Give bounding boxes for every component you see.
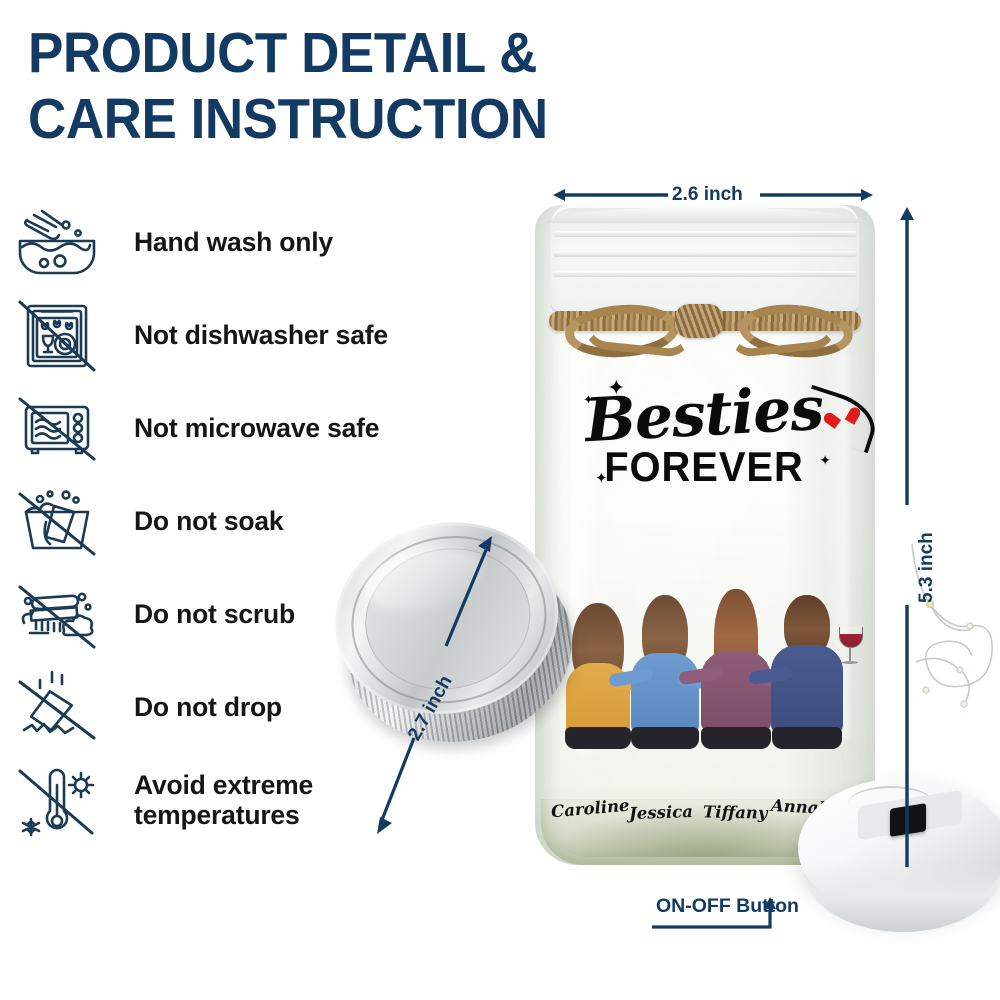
jar-artwork: Besties FOREVER ✦ ✦ ✦ ✦: [553, 385, 857, 815]
jar-thread: [553, 251, 857, 257]
dimension-height: 5.3 inch: [890, 205, 924, 875]
jar-thread: [553, 231, 857, 237]
sparkle-icon: ✦: [819, 453, 831, 467]
dimension-lid: 2.7 inch: [374, 528, 554, 868]
care-label: Do not drop: [134, 693, 282, 723]
dimension-width: 2.6 inch: [548, 184, 878, 204]
care-label: Do not scrub: [134, 600, 295, 630]
page-title: PRODUCT DETAIL & CARE INSTRUCTION: [28, 20, 716, 152]
seat: [631, 727, 699, 749]
sparkle-icon: ✦: [583, 393, 594, 406]
besties-headline: Besties FOREVER ✦ ✦ ✦ ✦: [559, 385, 849, 491]
name-1: Caroline: [550, 796, 630, 822]
no-dishwasher-icon: [8, 292, 106, 380]
no-soak-icon: [8, 478, 106, 566]
product-care-infographic: PRODUCT DETAIL & CARE INSTRUCTION Hand w…: [0, 0, 1000, 1000]
twine-knot: [675, 304, 723, 338]
no-drop-icon: [8, 664, 106, 752]
name-2: Jessica: [629, 802, 694, 823]
body-top: [771, 645, 843, 733]
four-friends-illustration: [559, 563, 851, 763]
dimension-height-label: 5.3 inch: [916, 532, 938, 603]
no-scrub-icon: [8, 571, 106, 659]
body-top: [701, 651, 771, 731]
seat: [701, 727, 771, 749]
sparkle-icon: ✦: [607, 377, 625, 399]
no-extreme-temp-icon: [8, 757, 106, 845]
hand-wash-icon: [8, 199, 106, 287]
friend-figure-4: [767, 593, 847, 749]
jar-thread: [553, 271, 857, 277]
wine-glass-icon: [837, 627, 863, 667]
sparkle-icon: ✦: [595, 471, 608, 486]
no-microwave-icon: [8, 385, 106, 473]
body-top: [631, 653, 699, 733]
jute-twine-bow: [543, 291, 867, 357]
seat: [772, 727, 842, 749]
care-label: Avoid extreme temperatures: [134, 771, 313, 830]
care-label: Do not soak: [134, 507, 283, 537]
name-3: Tiffany: [703, 802, 768, 822]
on-off-button-callout: ON-OFF Button: [648, 895, 948, 955]
care-label: Hand wash only: [134, 228, 333, 258]
dimension-width-label: 2.6 inch: [672, 184, 743, 206]
